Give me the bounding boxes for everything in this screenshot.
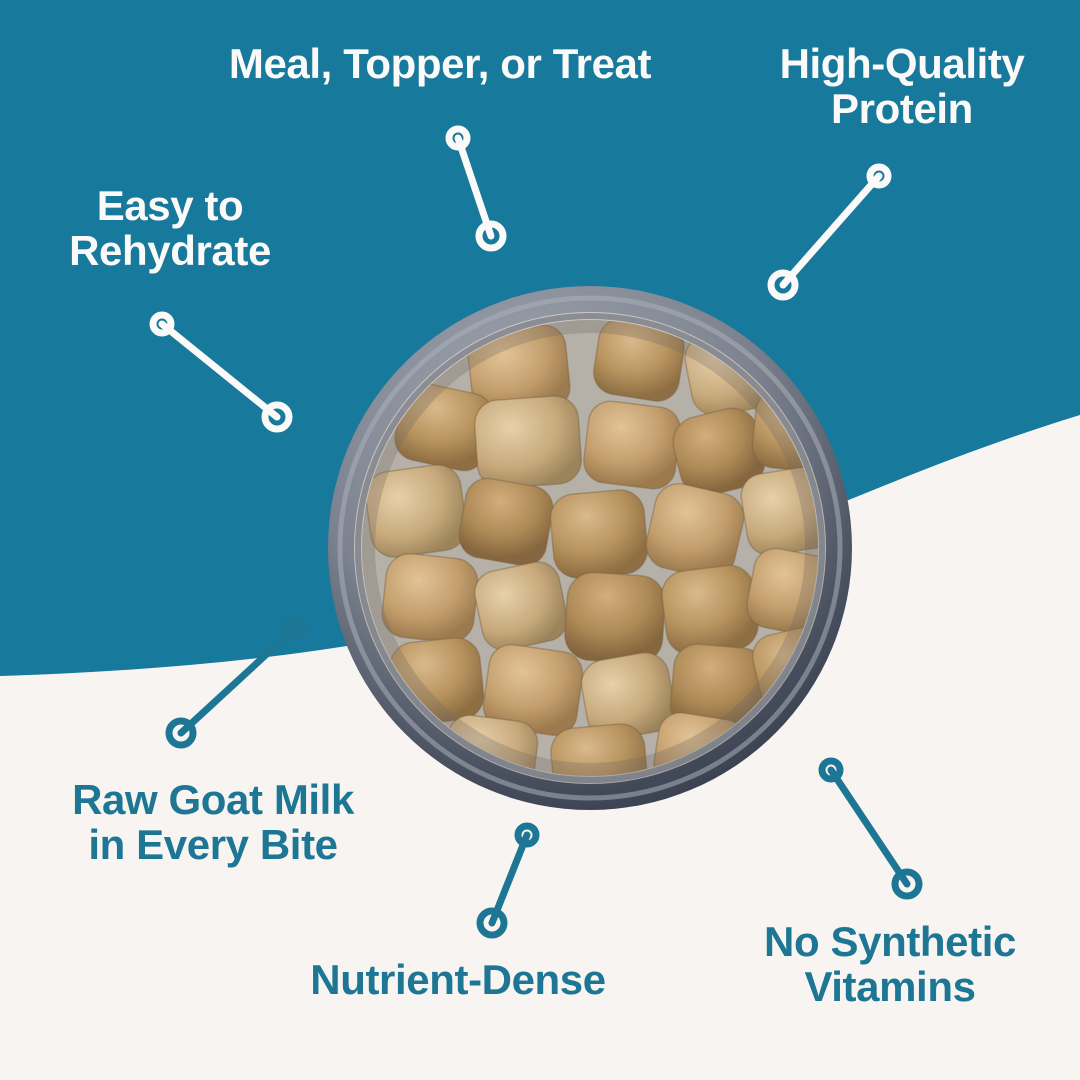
callout-label-raw-goat-milk: Raw Goat Milk in Every Bite	[8, 778, 418, 867]
callout-label-meal-topper-treat: Meal, Topper, or Treat	[160, 42, 720, 87]
callout-label-group: Meal, Topper, or Treat High-Quality Prot…	[0, 0, 1080, 1080]
callout-label-easy-to-rehydrate: Easy to Rehydrate	[20, 184, 320, 273]
callout-label-no-synthetic-vitamins: No Synthetic Vitamins	[730, 920, 1050, 1009]
callout-label-nutrient-dense: Nutrient-Dense	[268, 958, 648, 1003]
callout-label-high-quality-protein: High-Quality Protein	[742, 42, 1062, 131]
product-feature-infographic: Meal, Topper, or Treat High-Quality Prot…	[0, 0, 1080, 1080]
